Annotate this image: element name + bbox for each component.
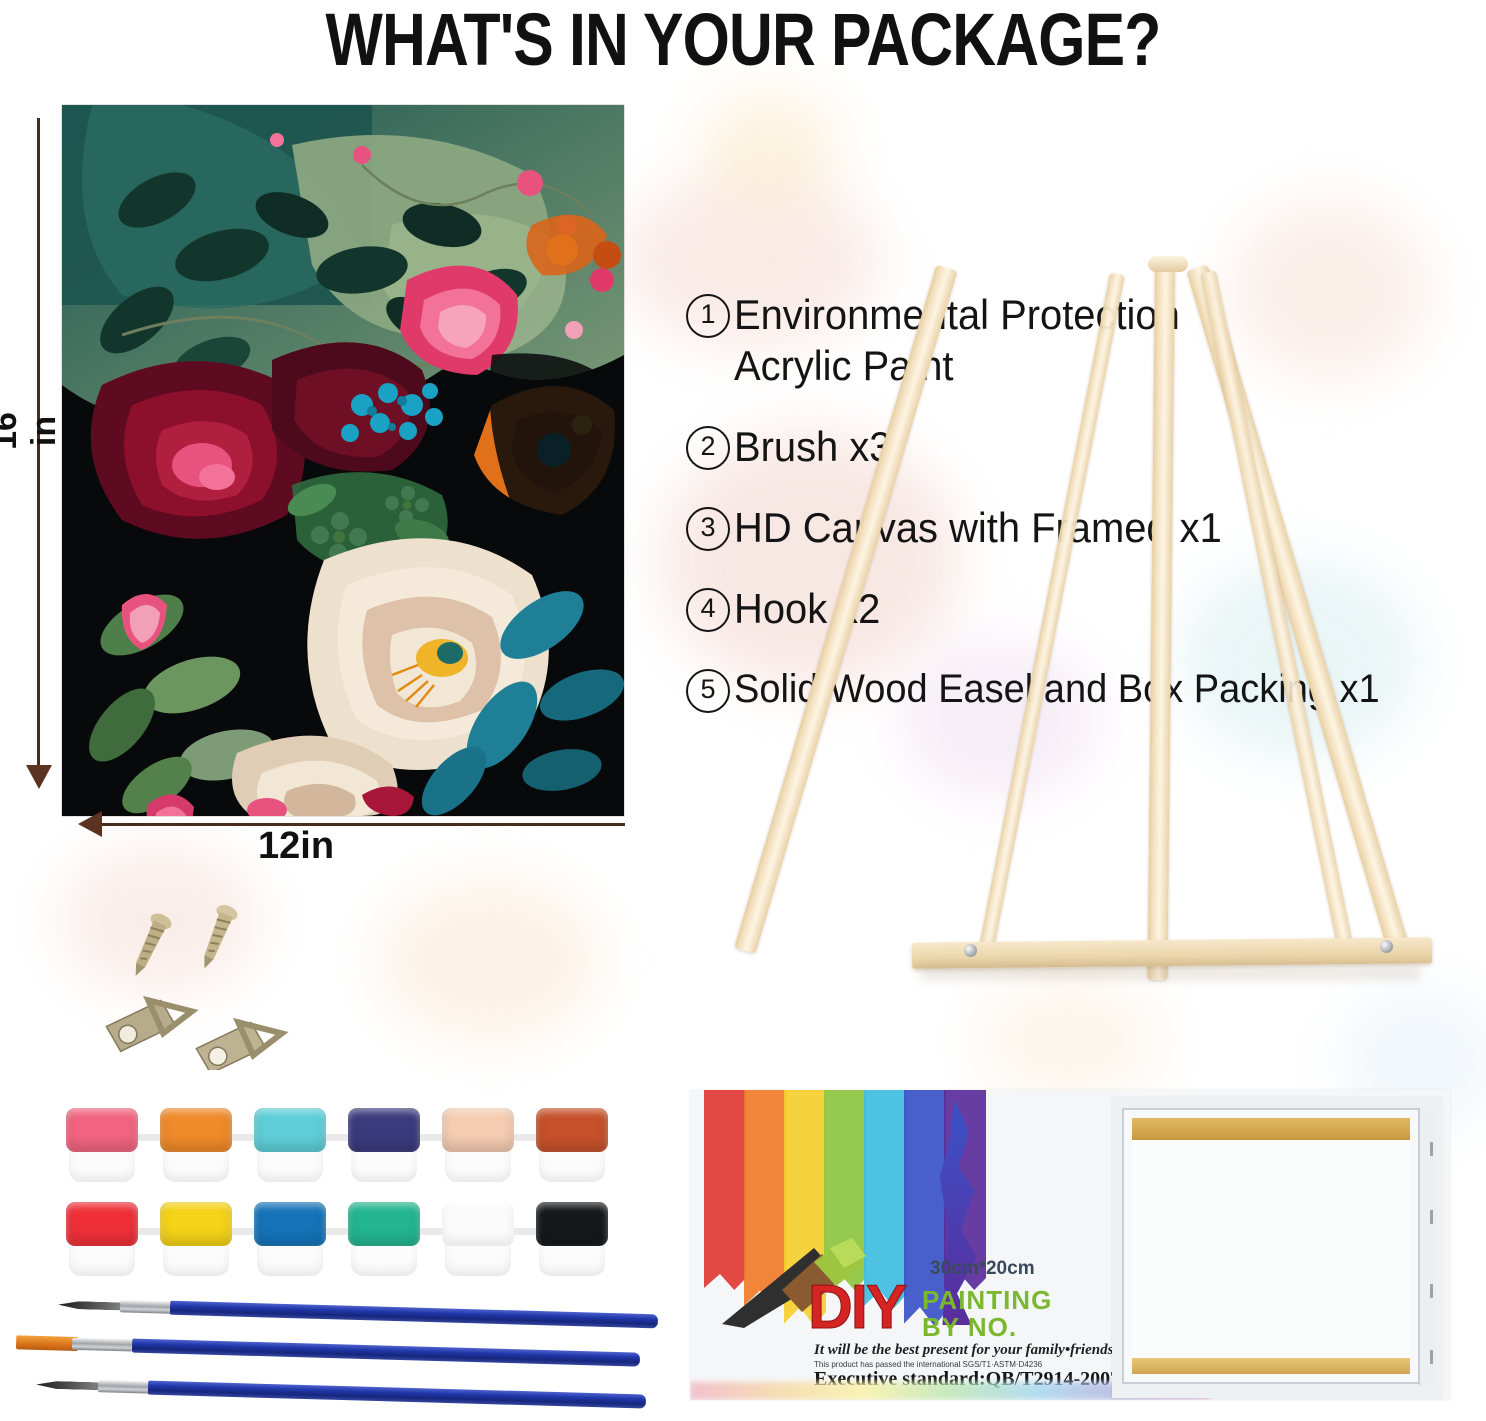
- easel-rivet-right: [1380, 940, 1393, 953]
- paint-pot-orange: [160, 1108, 232, 1182]
- brush-handle: [132, 1339, 640, 1367]
- infographic-stage: WHAT'S IN YOUR PACKAGE?: [0, 0, 1486, 1421]
- watercolor-wash: [700, 90, 840, 210]
- canvas-frame-inner: [1132, 1118, 1410, 1374]
- stretcher-bar-top: [1132, 1118, 1410, 1140]
- brush-handle: [170, 1301, 658, 1329]
- paint-pot-teal-green: [348, 1202, 420, 1276]
- canvas-artwork-preview: [62, 105, 624, 816]
- easel-rear-leg: [1200, 270, 1356, 961]
- acrylic-paint-pots: [60, 1108, 640, 1308]
- brush-round-2: [36, 1377, 646, 1408]
- paint-pot-yellow: [160, 1202, 232, 1276]
- hardware-svg: [90, 905, 310, 1070]
- stretcher-bar-bottom: [1132, 1358, 1410, 1374]
- canvas-side-edge: [1419, 1110, 1436, 1386]
- watercolor-wash: [980, 980, 1160, 1100]
- list-item-number: 2: [686, 426, 730, 470]
- paint-pot-lid: [348, 1108, 420, 1152]
- brush-ferrule: [120, 1300, 172, 1313]
- paint-pot-lid: [442, 1202, 514, 1246]
- easel-crossbar: [912, 937, 1432, 968]
- paint-pot-lid: [160, 1202, 232, 1246]
- paint-pot-navy-purple: [348, 1108, 420, 1182]
- d-ring-hook-icon: [193, 1011, 287, 1070]
- easel-rivet-left: [964, 944, 977, 957]
- list-item-number: 4: [686, 588, 730, 632]
- brush-round-1: [58, 1298, 658, 1329]
- brush-ferrule: [98, 1380, 150, 1393]
- paint-brushes: [14, 1300, 674, 1420]
- brush-flat: [16, 1335, 640, 1366]
- easel-apex-cap: [1148, 256, 1188, 272]
- paint-pot-lid: [348, 1202, 420, 1246]
- brush-bristle-round: [58, 1301, 128, 1311]
- paint-row-bottom: [66, 1202, 630, 1276]
- list-item-number: 3: [686, 507, 730, 551]
- paint-pot-white: [442, 1202, 514, 1276]
- list-item-label: Brush x3: [734, 421, 891, 472]
- list-item-number: 5: [686, 669, 730, 713]
- page-title: WHAT'S IN YOUR PACKAGE?: [134, 0, 1353, 84]
- canvas-staple: [1430, 1284, 1433, 1298]
- screw-icon: [126, 910, 174, 980]
- paint-pot-pink: [66, 1108, 138, 1182]
- canvas-frame-outer: [1122, 1108, 1420, 1384]
- paint-pot-lid: [536, 1108, 608, 1152]
- paint-pot-peach: [442, 1108, 514, 1182]
- diy-subtitle-line2: BY NO.: [922, 1312, 1017, 1343]
- list-item-number: 1: [686, 294, 730, 338]
- brush-bristle-flat: [16, 1335, 78, 1351]
- paint-pot-lid: [254, 1108, 326, 1152]
- width-arrow-icon: [78, 811, 102, 837]
- diy-brand-word: DIY: [808, 1272, 905, 1343]
- paint-pot-lid: [66, 1108, 138, 1152]
- paint-pot-black: [536, 1202, 608, 1276]
- height-label: 16 in: [0, 393, 64, 469]
- d-ring-hook-icon: [103, 989, 197, 1054]
- paint-pot-rust: [536, 1108, 608, 1182]
- paint-pot-red: [66, 1202, 138, 1276]
- wooden-easel: [900, 250, 1486, 990]
- width-label: 12in: [258, 825, 334, 868]
- watercolor-wash: [380, 880, 600, 1040]
- brush-ferrule: [72, 1338, 132, 1352]
- paint-row-top: [66, 1108, 630, 1182]
- paint-pot-blue: [254, 1202, 326, 1276]
- easel-support-left: [977, 273, 1125, 963]
- canvas-staple: [1430, 1210, 1433, 1224]
- easel-center-mast: [1147, 262, 1175, 980]
- width-dimension-line: [95, 823, 625, 826]
- brush-handle: [148, 1381, 646, 1409]
- canvas-staple: [1430, 1142, 1433, 1156]
- diy-size-label: 30cm*20cm: [930, 1258, 1035, 1280]
- paint-pot-lid: [442, 1108, 514, 1152]
- screw-icon: [194, 905, 239, 972]
- paint-pot-lid: [160, 1108, 232, 1152]
- height-arrow-icon: [26, 765, 52, 789]
- hanging-hardware: [90, 905, 310, 1070]
- brush-bristle-round: [36, 1380, 106, 1390]
- paint-pot-lid: [536, 1202, 608, 1246]
- floral-artwork-svg: [62, 105, 624, 816]
- easel-crossbar-shadow: [920, 966, 1420, 980]
- blank-canvas-back: [1112, 1098, 1442, 1398]
- paint-pot-lid: [66, 1202, 138, 1246]
- paint-pot-lid: [254, 1202, 326, 1246]
- canvas-staple: [1430, 1350, 1433, 1364]
- paint-pot-cyan: [254, 1108, 326, 1182]
